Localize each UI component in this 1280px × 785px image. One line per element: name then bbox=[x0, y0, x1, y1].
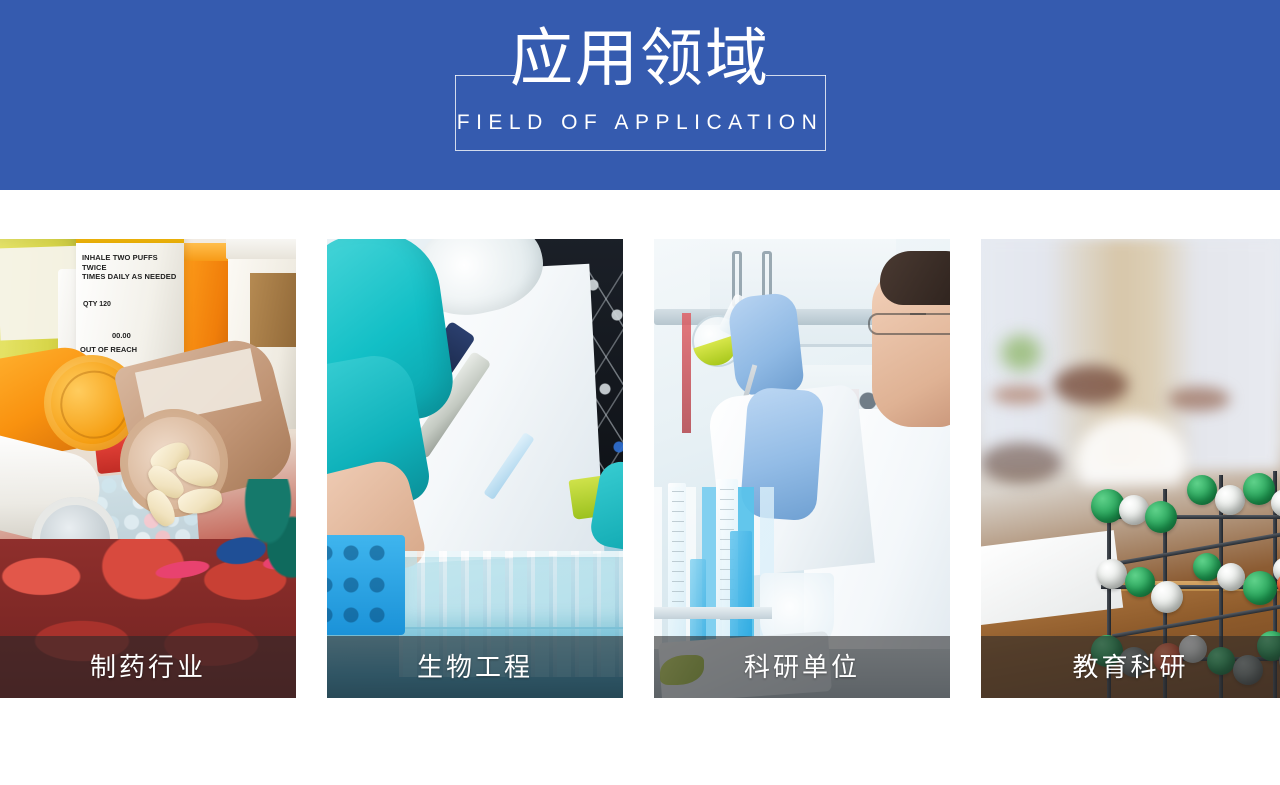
card-label: 教育科研 bbox=[981, 636, 1280, 698]
application-card[interactable]: 生物工程 bbox=[327, 239, 623, 698]
application-card[interactable]: 教育科研 bbox=[981, 239, 1280, 698]
card-label: 生物工程 bbox=[327, 636, 623, 698]
application-card-grid: INHALE TWO PUFFS TWICETIMES DAILY AS NEE… bbox=[0, 239, 1280, 698]
banner-content: 应用领域 FIELD OF APPLICATION bbox=[0, 0, 1280, 190]
card-label: 科研单位 bbox=[654, 636, 950, 698]
page-subtitle: FIELD OF APPLICATION bbox=[0, 108, 1280, 138]
pharmaceutical-pill-bottles-photo: INHALE TWO PUFFS TWICETIMES DAILY AS NEE… bbox=[0, 239, 296, 698]
page-banner: 应用领域 FIELD OF APPLICATION bbox=[0, 0, 1280, 190]
bioengineering-pipette-photo bbox=[327, 239, 623, 698]
research-institute-flask-photo bbox=[654, 239, 950, 698]
card-label: 制药行业 bbox=[0, 636, 296, 698]
application-field-page: 应用领域 FIELD OF APPLICATION INHALE TWO PUF… bbox=[0, 0, 1280, 785]
page-title: 应用领域 bbox=[0, 22, 1280, 96]
application-card[interactable]: INHALE TWO PUFFS TWICETIMES DAILY AS NEE… bbox=[0, 239, 296, 698]
application-card[interactable]: 科研单位 bbox=[654, 239, 950, 698]
education-research-molecule-photo bbox=[981, 239, 1280, 698]
